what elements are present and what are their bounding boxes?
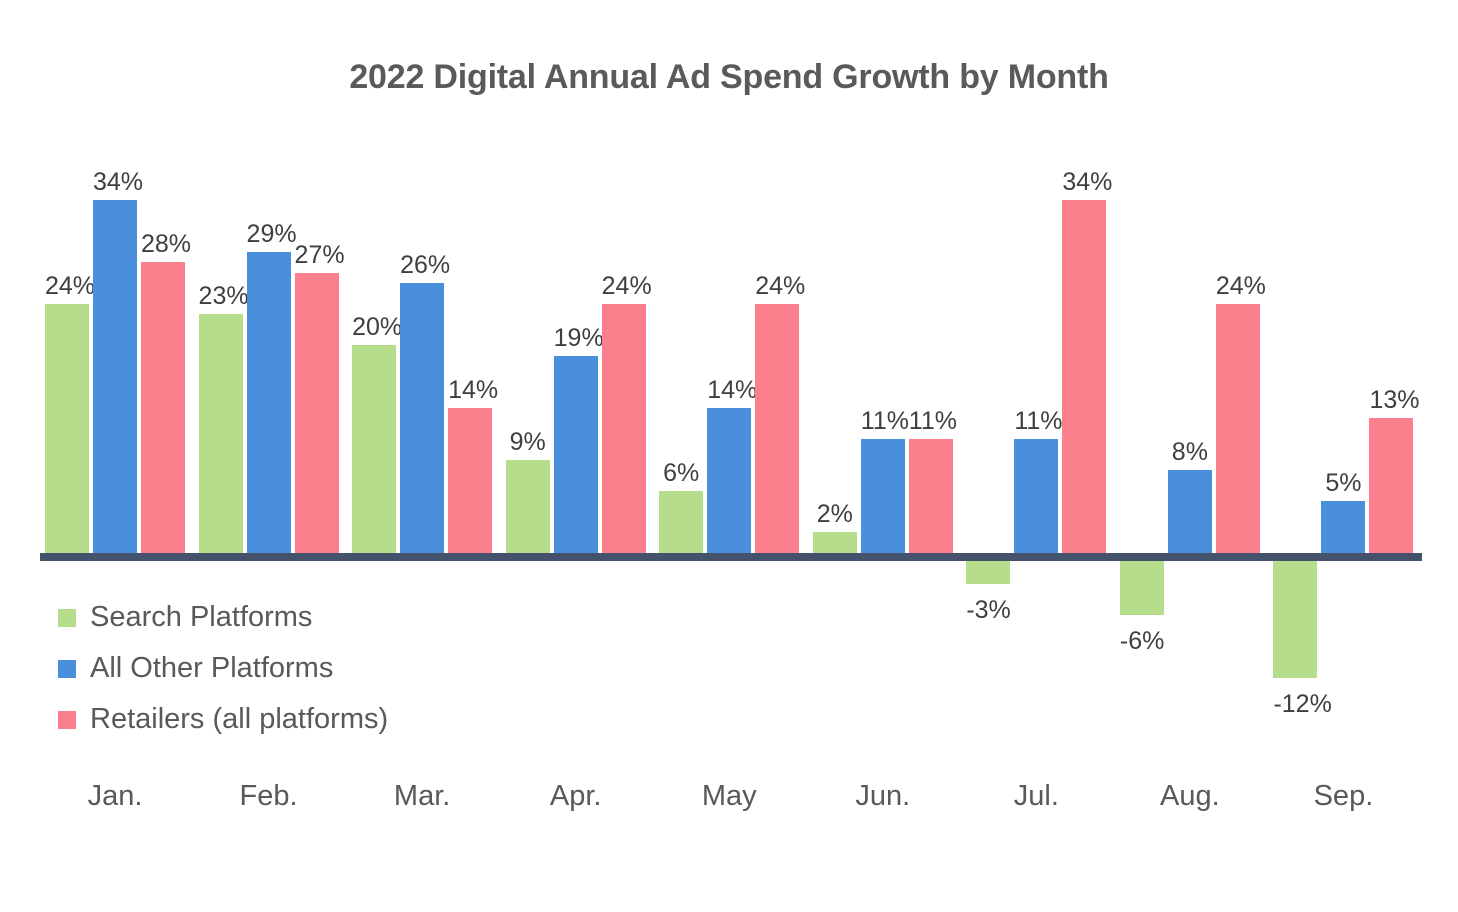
- bar-slot: 34%: [1062, 140, 1106, 760]
- bar-retailers-all-platforms[interactable]: [1062, 200, 1106, 553]
- bar-slot: 5%: [1321, 140, 1365, 760]
- bar-group: -12%5%13%: [1273, 140, 1413, 760]
- bar-value-label: 14%: [707, 378, 751, 403]
- bar-slot: 14%: [707, 140, 751, 760]
- bar-search-platforms[interactable]: [352, 345, 396, 553]
- bar-value-label: 13%: [1369, 388, 1413, 413]
- bar-retailers-all-platforms[interactable]: [755, 304, 799, 553]
- bar-value-label: 11%: [909, 409, 953, 434]
- bar-slot: -12%: [1273, 140, 1317, 760]
- bar-search-platforms[interactable]: [45, 304, 89, 553]
- bar-retailers-all-platforms[interactable]: [448, 408, 492, 553]
- bar-all-other-platforms[interactable]: [93, 200, 137, 553]
- bar-value-label: 24%: [45, 274, 89, 299]
- x-axis-tick-may: May: [655, 780, 803, 813]
- bar-slot: 24%: [755, 140, 799, 760]
- bar-value-label: -3%: [966, 598, 1010, 623]
- bar-value-label: 14%: [448, 378, 492, 403]
- bar-value-label: 5%: [1321, 471, 1365, 496]
- bar-value-label: 24%: [755, 274, 799, 299]
- bar-retailers-all-platforms[interactable]: [295, 273, 339, 553]
- bar-all-other-platforms[interactable]: [554, 356, 598, 553]
- x-axis-tick-sep: Sep.: [1269, 780, 1417, 813]
- bar-all-other-platforms[interactable]: [247, 252, 291, 553]
- bar-value-label: -12%: [1273, 692, 1317, 717]
- bar-group: 9%19%24%: [506, 140, 646, 760]
- bar-slot: 9%: [506, 140, 550, 760]
- bar-value-label: 23%: [199, 284, 243, 309]
- bar-slot: 11%: [1014, 140, 1058, 760]
- bar-value-label: 34%: [93, 170, 137, 195]
- bar-search-platforms[interactable]: [199, 314, 243, 553]
- x-axis-tick-jun: Jun.: [809, 780, 957, 813]
- bar-all-other-platforms[interactable]: [1014, 439, 1058, 553]
- legend-item-search[interactable]: Search Platforms: [58, 592, 478, 643]
- bar-value-label: 34%: [1062, 170, 1106, 195]
- bar-retailers-all-platforms[interactable]: [909, 439, 953, 553]
- chart-legend: Search PlatformsAll Other PlatformsRetai…: [58, 592, 478, 745]
- bar-slot: 24%: [1216, 140, 1260, 760]
- bar-search-platforms[interactable]: [659, 491, 703, 553]
- bar-value-label: 29%: [247, 222, 291, 247]
- bar-group: -6%8%24%: [1120, 140, 1260, 760]
- bar-value-label: 27%: [295, 243, 339, 268]
- legend-swatch-icon: [58, 711, 76, 729]
- bar-group: 6%14%24%: [659, 140, 799, 760]
- legend-item-label: Search Platforms: [90, 601, 312, 634]
- bar-retailers-all-platforms[interactable]: [602, 304, 646, 553]
- bar-slot: 8%: [1168, 140, 1212, 760]
- bar-all-other-platforms[interactable]: [707, 408, 751, 553]
- bar-retailers-all-platforms[interactable]: [141, 262, 185, 553]
- bar-value-label: -6%: [1120, 629, 1164, 654]
- bar-slot: -6%: [1120, 140, 1164, 760]
- bar-value-label: 11%: [861, 409, 905, 434]
- bar-value-label: 19%: [554, 326, 598, 351]
- bar-slot: 11%: [861, 140, 905, 760]
- bar-value-label: 9%: [506, 430, 550, 455]
- legend-item-label: All Other Platforms: [90, 652, 333, 685]
- bar-all-other-platforms[interactable]: [861, 439, 905, 553]
- x-axis-tick-apr: Apr.: [502, 780, 650, 813]
- bar-slot: 13%: [1369, 140, 1413, 760]
- bar-search-platforms[interactable]: [1273, 553, 1317, 678]
- bar-group: 2%11%11%: [813, 140, 953, 760]
- x-axis-tick-jan: Jan.: [41, 780, 189, 813]
- bar-group: -3%11%34%: [966, 140, 1106, 760]
- bar-value-label: 6%: [659, 461, 703, 486]
- bar-value-label: 11%: [1014, 409, 1058, 434]
- bar-value-label: 2%: [813, 502, 857, 527]
- bar-slot: 19%: [554, 140, 598, 760]
- bar-retailers-all-platforms[interactable]: [1369, 418, 1413, 553]
- bar-slot: 2%: [813, 140, 857, 760]
- bar-search-platforms[interactable]: [813, 532, 857, 553]
- chart-container: 2022 Digital Annual Ad Spend Growth by M…: [0, 0, 1458, 912]
- zero-axis-line: [40, 553, 1422, 561]
- legend-item-retail[interactable]: Retailers (all platforms): [58, 694, 478, 745]
- bar-value-label: 26%: [400, 253, 444, 278]
- bar-value-label: 20%: [352, 315, 396, 340]
- legend-item-other[interactable]: All Other Platforms: [58, 643, 478, 694]
- bar-value-label: 28%: [141, 232, 185, 257]
- bar-slot: -3%: [966, 140, 1010, 760]
- legend-item-label: Retailers (all platforms): [90, 703, 388, 736]
- bar-value-label: 24%: [1216, 274, 1260, 299]
- bar-search-platforms[interactable]: [506, 460, 550, 553]
- bar-slot: 6%: [659, 140, 703, 760]
- bar-all-other-platforms[interactable]: [1168, 470, 1212, 553]
- bar-value-label: 8%: [1168, 440, 1212, 465]
- x-axis-tick-aug: Aug.: [1116, 780, 1264, 813]
- x-axis-tick-mar: Mar.: [348, 780, 496, 813]
- bar-slot: 24%: [602, 140, 646, 760]
- legend-swatch-icon: [58, 609, 76, 627]
- chart-title: 2022 Digital Annual Ad Spend Growth by M…: [0, 58, 1458, 97]
- bar-all-other-platforms[interactable]: [1321, 501, 1365, 553]
- bar-slot: 11%: [909, 140, 953, 760]
- x-axis-tick-labels: Jan.Feb.Mar.Apr.MayJun.Jul.Aug.Sep.: [40, 780, 1422, 826]
- legend-swatch-icon: [58, 660, 76, 678]
- bar-value-label: 24%: [602, 274, 646, 299]
- x-axis-tick-jul: Jul.: [962, 780, 1110, 813]
- bar-search-platforms[interactable]: [1120, 553, 1164, 615]
- x-axis-tick-feb: Feb.: [195, 780, 343, 813]
- bar-all-other-platforms[interactable]: [400, 283, 444, 553]
- bar-retailers-all-platforms[interactable]: [1216, 304, 1260, 553]
